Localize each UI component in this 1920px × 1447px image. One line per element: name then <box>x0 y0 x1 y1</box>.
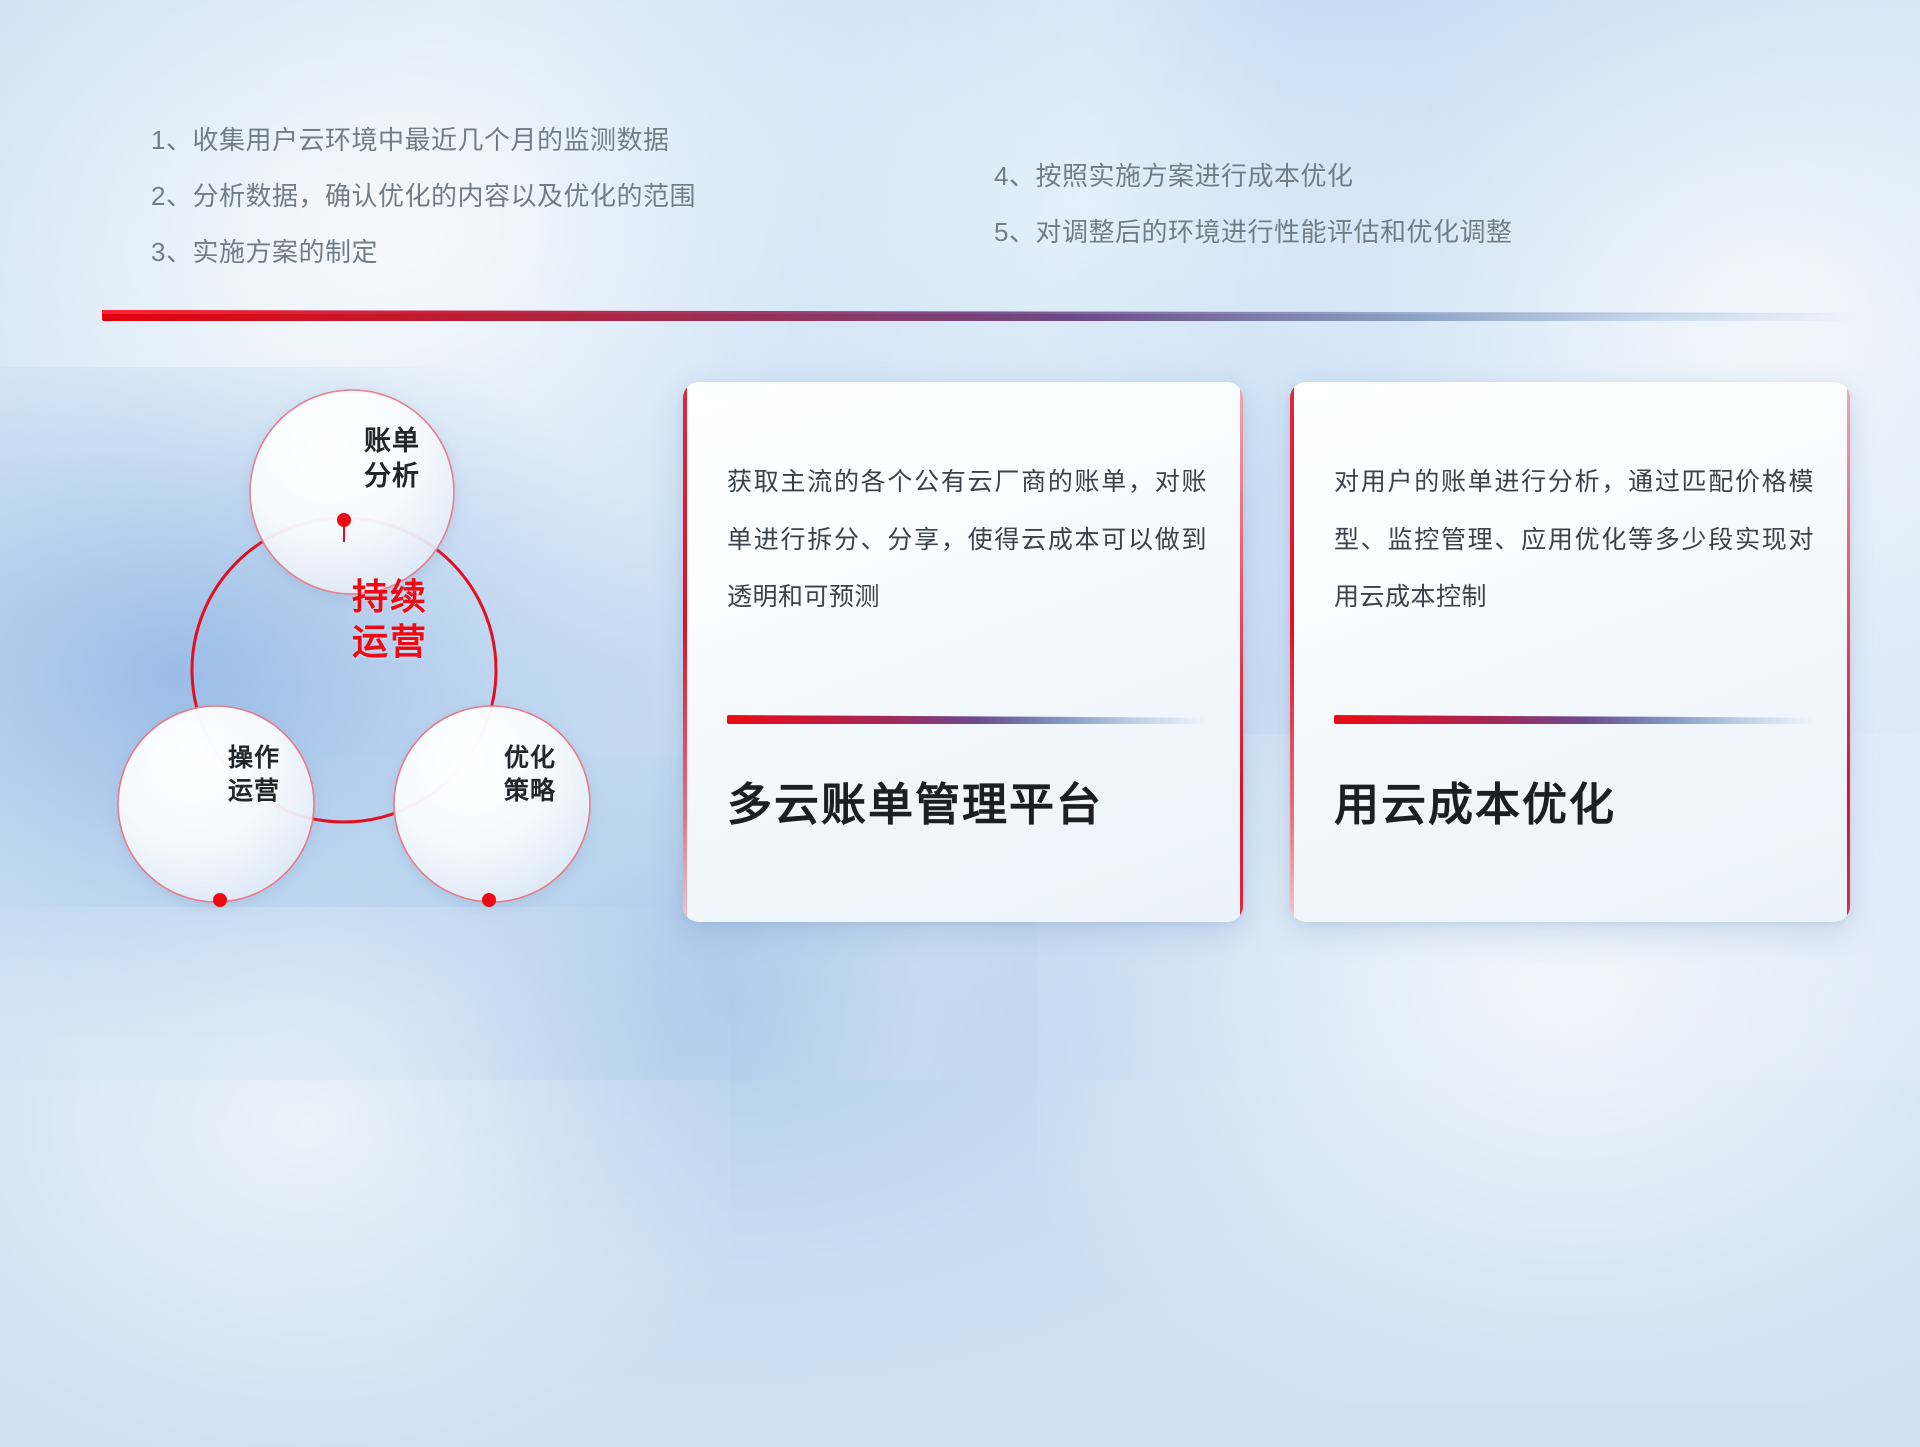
venn-label-strategy-line2: 策略 <box>460 775 600 808</box>
venn-label-billing-line2: 分析 <box>322 459 462 494</box>
feature-card-title: 用云成本优化 <box>1334 768 1820 833</box>
feature-card-divider <box>727 715 1207 724</box>
venn-label-billing-line1: 账单 <box>322 424 462 459</box>
feature-card-body: 对用户的账单进行分析，通过匹配价格模型、监控管理、应用优化等多少段实现对用云成本… <box>1334 454 1814 627</box>
venn-label-strategy-line1: 优化 <box>460 742 600 775</box>
venn-label-operations-line2: 运营 <box>184 775 324 808</box>
process-step-1: 1、收集用户云环境中最近几个月的监测数据 <box>151 127 696 153</box>
venn-node-right <box>482 893 496 907</box>
section-divider <box>102 310 1862 321</box>
feature-card-cost-optimization[interactable]: 对用户的账单进行分析，通过匹配价格模型、监控管理、应用优化等多少段实现对用云成本… <box>1290 382 1850 922</box>
feature-card-body: 获取主流的各个公有云厂商的账单，对账单进行拆分、分享，使得云成本可以做到透明和可… <box>727 454 1207 627</box>
process-steps-left: 1、收集用户云环境中最近几个月的监测数据 2、分析数据，确认优化的内容以及优化的… <box>151 127 696 295</box>
feature-card-title: 多云账单管理平台 <box>727 768 1213 833</box>
process-step-5: 5、对调整后的环境进行性能评估和优化调整 <box>994 219 1512 245</box>
slide-content: 1、收集用户云环境中最近几个月的监测数据 2、分析数据，确认优化的内容以及优化的… <box>0 0 1920 1080</box>
venn-label-center: 持续 运营 <box>300 574 480 665</box>
divider-highlight <box>102 310 1862 314</box>
venn-label-operations-line1: 操作 <box>184 742 324 775</box>
venn-label-center-line1: 持续 <box>300 574 480 619</box>
feature-card-billing-platform[interactable]: 获取主流的各个公有云厂商的账单，对账单进行拆分、分享，使得云成本可以做到透明和可… <box>683 382 1243 922</box>
process-step-4: 4、按照实施方案进行成本优化 <box>994 163 1512 189</box>
venn-node-left <box>213 893 227 907</box>
venn-label-operations: 操作 运营 <box>184 742 324 807</box>
process-step-2: 2、分析数据，确认优化的内容以及优化的范围 <box>151 183 696 209</box>
process-steps-right: 4、按照实施方案进行成本优化 5、对调整后的环境进行性能评估和优化调整 <box>994 163 1512 275</box>
venn-label-strategy: 优化 策略 <box>460 742 600 807</box>
process-step-3: 3、实施方案的制定 <box>151 239 696 265</box>
venn-label-billing: 账单 分析 <box>322 424 462 494</box>
feature-card-divider <box>1334 715 1814 724</box>
venn-label-center-line2: 运营 <box>300 619 480 664</box>
venn-diagram: 账单 分析 操作 运营 优化 策略 持续 运营 <box>96 352 636 952</box>
